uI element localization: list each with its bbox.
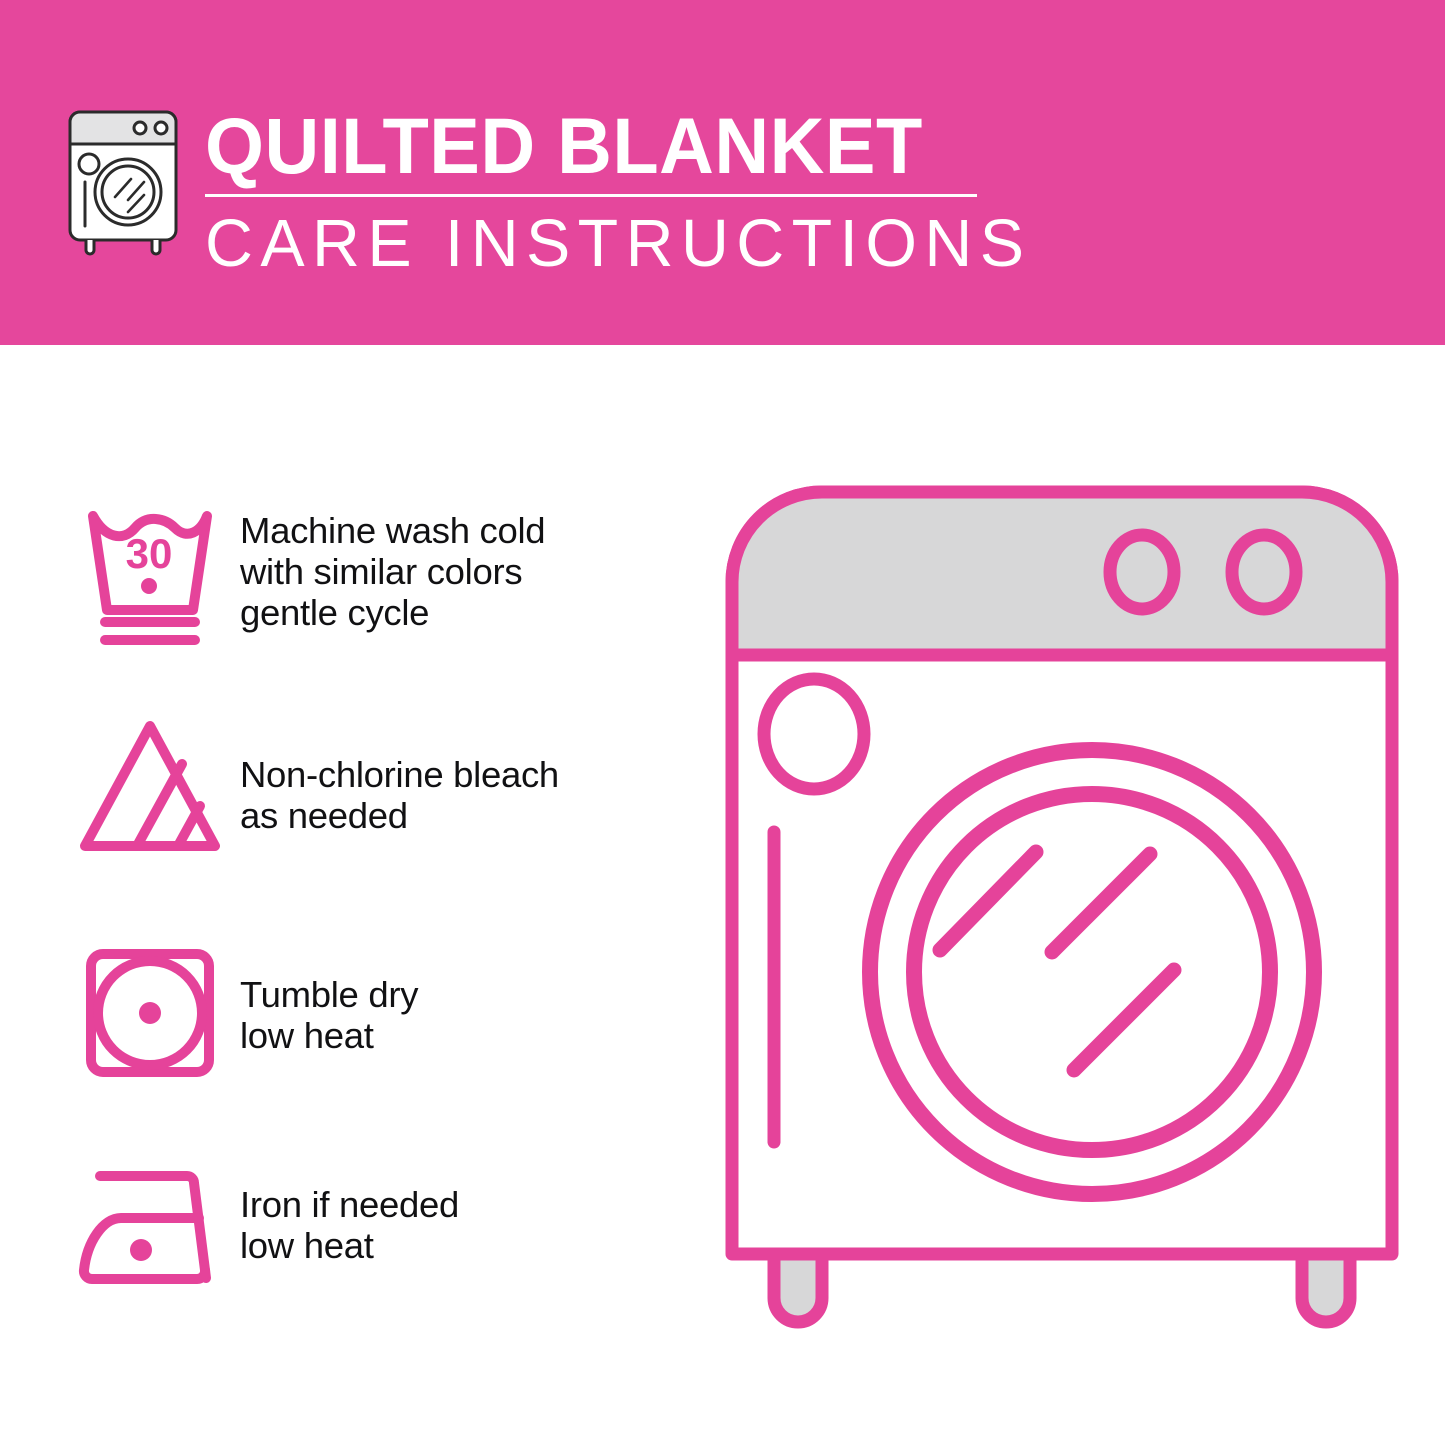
header-title-block: QUILTED BLANKET CARE INSTRUCTIONS — [205, 104, 995, 281]
care-text-line: Machine wash cold — [240, 510, 700, 551]
washer-leg — [774, 1250, 822, 1322]
washer-knob — [1110, 535, 1174, 609]
care-row: 30 Machine wash cold with similar colors… — [60, 498, 700, 648]
care-row-text: Tumble dry low heat — [240, 938, 700, 1056]
washer-latch-knob — [764, 679, 864, 789]
care-text-line: Iron if needed — [240, 1184, 700, 1225]
care-row: Iron if needed low heat — [60, 1152, 700, 1302]
washer-leg — [1302, 1250, 1350, 1322]
page-title: QUILTED BLANKET — [205, 104, 963, 188]
washer-drum-inner — [914, 794, 1270, 1150]
title-divider — [205, 194, 977, 197]
care-text-line: low heat — [240, 1225, 700, 1266]
care-row-text: Non-chlorine bleach as needed — [240, 712, 700, 836]
care-row-text: Machine wash cold with similar colors ge… — [240, 498, 700, 633]
care-text-line: Tumble dry — [240, 974, 700, 1015]
care-text-line: gentle cycle — [240, 592, 700, 633]
care-text-line: low heat — [240, 1015, 700, 1056]
care-text-line: with similar colors — [240, 551, 700, 592]
care-row: Tumble dry low heat — [60, 938, 700, 1088]
front-load-washing-machine-illustration — [722, 482, 1402, 1362]
header-band: QUILTED BLANKET CARE INSTRUCTIONS — [0, 0, 1445, 345]
tumble-dry-low-icon — [60, 938, 240, 1088]
care-row: Non-chlorine bleach as needed — [60, 712, 700, 862]
page-subtitle: CARE INSTRUCTIONS — [205, 207, 987, 281]
wash-tub-30-gentle-icon: 30 — [60, 498, 240, 648]
care-row-text: Iron if needed low heat — [240, 1152, 700, 1266]
washer-knob — [1232, 535, 1296, 609]
svg-text:30: 30 — [126, 530, 173, 577]
washing-machine-icon — [58, 96, 188, 256]
care-text-line: as needed — [240, 795, 700, 836]
iron-low-heat-icon — [60, 1152, 240, 1302]
triangle-non-chlorine-bleach-icon — [60, 712, 240, 862]
care-instructions-page: QUILTED BLANKET CARE INSTRUCTIONS 30 Mac… — [0, 0, 1445, 1445]
care-text-line: Non-chlorine bleach — [240, 754, 700, 795]
